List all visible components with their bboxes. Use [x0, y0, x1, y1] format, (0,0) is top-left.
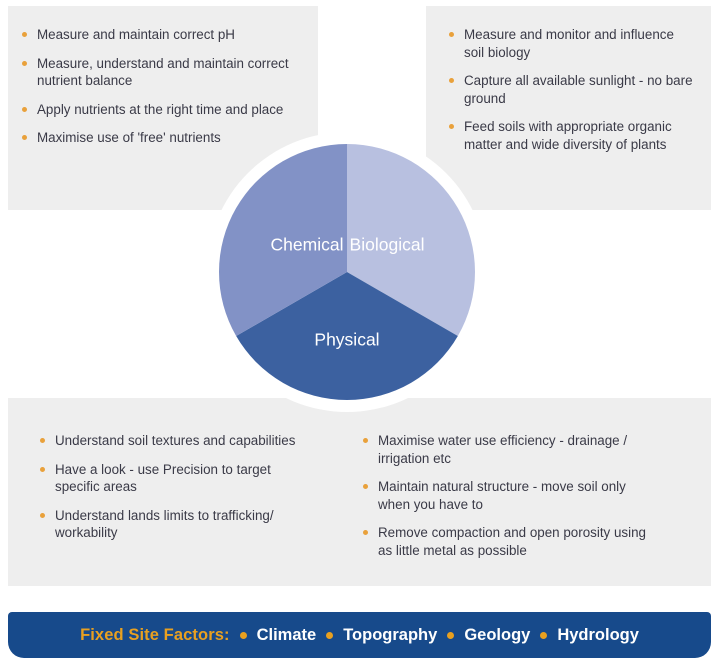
list-item-label: Capture all available sunlight - no bare… [464, 73, 693, 106]
bullet-dot-icon [22, 107, 27, 112]
list-item-label: Understand lands limits to trafficking/ … [55, 508, 274, 541]
banner-item-label: Geology [464, 626, 530, 645]
bullet-dot-icon [22, 61, 27, 66]
pie-label-chemical: Chemical [271, 235, 344, 255]
list-item: Maintain natural structure - move soil o… [363, 478, 653, 513]
list-item: Measure and maintain correct pH [22, 26, 294, 44]
bullet-dot-icon [240, 632, 247, 639]
biological-bullet-list: Measure and monitor and influence soil b… [449, 26, 697, 154]
list-item: Understand lands limits to trafficking/ … [40, 507, 308, 542]
soil-pie-chart: Biological Chemical Physical [219, 144, 475, 400]
list-item-label: Measure and monitor and influence soil b… [464, 27, 674, 60]
bullet-dot-icon [40, 467, 45, 472]
banner-item-label: Hydrology [557, 626, 639, 645]
bullet-dot-icon [40, 438, 45, 443]
fixed-site-factors-banner: Fixed Site Factors: Climate Topography G… [8, 612, 711, 658]
diagram-canvas: Measure and maintain correct pH Measure,… [0, 0, 719, 668]
list-item: Maximise water use efficiency - drainage… [363, 432, 653, 467]
bullet-dot-icon [22, 135, 27, 140]
bullet-dot-icon [363, 484, 368, 489]
bullet-dot-icon [447, 632, 454, 639]
list-item-label: Measure and maintain correct pH [37, 27, 235, 42]
list-item: Measure and monitor and influence soil b… [449, 26, 697, 61]
bullet-dot-icon [449, 78, 454, 83]
list-item-label: Understand soil textures and capabilitie… [55, 433, 295, 448]
list-item: Understand soil textures and capabilitie… [40, 432, 308, 450]
banner-title: Fixed Site Factors: [80, 626, 230, 645]
chemical-bullet-list: Measure and maintain correct pH Measure,… [22, 26, 294, 147]
bullet-dot-icon [326, 632, 333, 639]
list-item-label: Measure, understand and maintain correct… [37, 56, 289, 89]
list-item-label: Maximise water use efficiency - drainage… [378, 433, 627, 466]
bullet-dot-icon [449, 124, 454, 129]
banner-item-group: Climate Topography Geology Hydrology [230, 626, 639, 645]
list-item: Capture all available sunlight - no bare… [449, 72, 697, 107]
banner-item-label: Climate [257, 626, 317, 645]
bullet-dot-icon [449, 32, 454, 37]
list-item: Measure, understand and maintain correct… [22, 55, 294, 90]
banner-item-topography[interactable]: Topography [326, 626, 437, 645]
bullet-dot-icon [363, 530, 368, 535]
list-item-label: Maintain natural structure - move soil o… [378, 479, 626, 512]
banner-item-label: Topography [343, 626, 437, 645]
pie-label-biological: Biological [350, 235, 425, 255]
list-item-label: Have a look - use Precision to target sp… [55, 462, 271, 495]
list-item: Feed soils with appropriate organic matt… [449, 118, 697, 153]
physical-right-bullet-list: Maximise water use efficiency - drainage… [363, 432, 653, 560]
banner-item-geology[interactable]: Geology [447, 626, 530, 645]
list-item-label: Maximise use of 'free' nutrients [37, 130, 221, 145]
bullet-dot-icon [22, 32, 27, 37]
list-item: Remove compaction and open porosity usin… [363, 524, 653, 559]
list-item: Apply nutrients at the right time and pl… [22, 101, 294, 119]
bullet-dot-icon [540, 632, 547, 639]
list-item-label: Feed soils with appropriate organic matt… [464, 119, 672, 152]
physical-left-bullet-list: Understand soil textures and capabilitie… [40, 432, 308, 542]
list-item-label: Remove compaction and open porosity usin… [378, 525, 646, 558]
bullet-dot-icon [363, 438, 368, 443]
list-item: Have a look - use Precision to target sp… [40, 461, 308, 496]
bullet-dot-icon [40, 513, 45, 518]
banner-item-hydrology[interactable]: Hydrology [540, 626, 639, 645]
banner-item-climate[interactable]: Climate [240, 626, 317, 645]
pie-label-physical: Physical [314, 330, 379, 350]
list-item-label: Apply nutrients at the right time and pl… [37, 102, 283, 117]
